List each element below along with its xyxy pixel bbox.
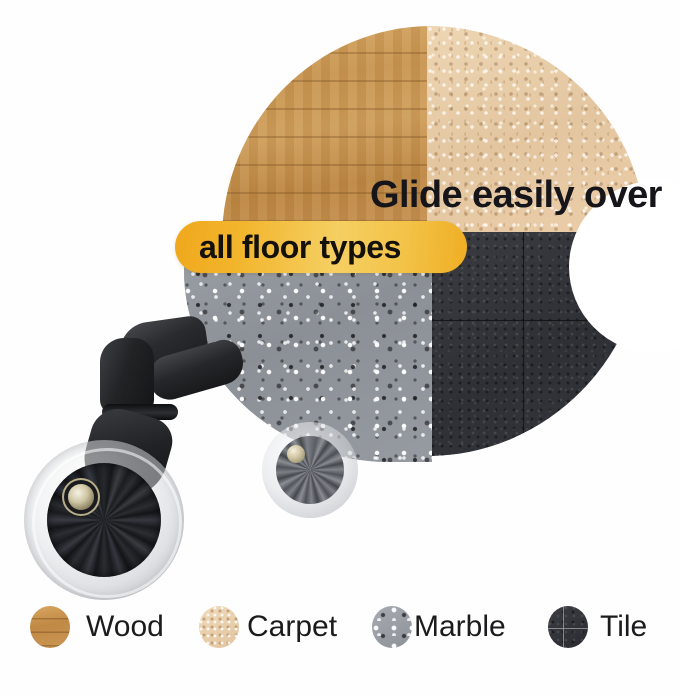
caster-wheel-front xyxy=(24,440,184,600)
carpet-swatch-icon xyxy=(199,606,239,648)
legend-label-carpet: Carpet xyxy=(247,607,337,647)
product-banner: Glide easily over all floor types Wood C… xyxy=(0,0,679,696)
legend-item-carpet: Carpet xyxy=(199,604,359,654)
rear-wheel-hub xyxy=(276,436,344,504)
legend-label-tile: Tile xyxy=(600,607,647,647)
caster-stem-shaft xyxy=(100,338,154,414)
legend-item-wood: Wood xyxy=(30,604,180,654)
headline-pill-label: all floor types xyxy=(199,230,401,264)
caster-wheel-product xyxy=(0,300,290,570)
caster-wheel-rear xyxy=(262,422,358,518)
marble-swatch-icon xyxy=(372,606,412,648)
wheel-tire-tread xyxy=(32,448,182,598)
tile-swatch-grout-horizontal xyxy=(548,628,588,629)
tile-grout-vertical xyxy=(523,232,524,456)
headline-primary: Glide easily over xyxy=(370,176,662,214)
floor-type-legend: Wood Carpet Marble Tile xyxy=(0,604,679,660)
tile-swatch-grout-vertical xyxy=(563,606,564,648)
legend-item-marble: Marble xyxy=(372,604,532,654)
legend-item-tile: Tile xyxy=(548,604,668,654)
tile-swatch-icon xyxy=(548,606,588,648)
rear-wheel-bearing xyxy=(287,445,305,463)
headline-pill-badge: all floor types xyxy=(175,221,467,273)
legend-label-wood: Wood xyxy=(86,607,164,647)
wood-swatch-icon xyxy=(30,606,70,648)
legend-label-marble: Marble xyxy=(414,607,506,647)
